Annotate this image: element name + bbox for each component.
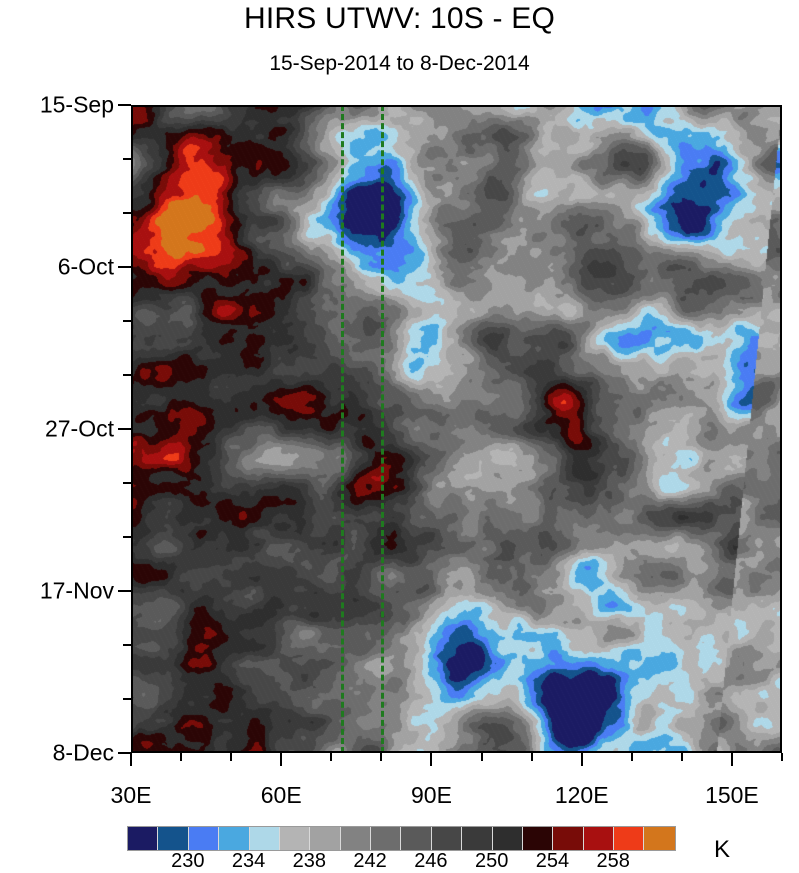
x-axis-tick-label: 60E bbox=[261, 782, 302, 809]
colorbar-swatch[interactable] bbox=[614, 827, 644, 850]
colorbar-tick-label: 238 bbox=[293, 850, 326, 873]
x-axis-tick-label: 120E bbox=[555, 782, 609, 809]
y-axis-minor-tick bbox=[123, 536, 131, 538]
x-axis-minor-tick bbox=[531, 753, 533, 761]
x-axis-tick-label: 30E bbox=[111, 782, 152, 809]
y-axis-major-tick bbox=[118, 104, 131, 106]
colorbar-swatch[interactable] bbox=[584, 827, 614, 850]
colorbar-swatch[interactable] bbox=[250, 827, 280, 850]
y-axis-major-tick bbox=[118, 752, 131, 754]
colorbar-tick-label: 234 bbox=[232, 850, 265, 873]
x-axis-major-tick bbox=[280, 753, 282, 766]
y-axis-minor-tick bbox=[123, 158, 131, 160]
colorbar-tick-label: 230 bbox=[171, 850, 204, 873]
colorbar-tick-label: 254 bbox=[536, 850, 569, 873]
hovmoller-figure: HIRS UTWV: 10S - EQ 15-Sep-2014 to 8-Dec… bbox=[0, 0, 799, 869]
y-axis-minor-tick bbox=[123, 698, 131, 700]
colorbar-swatch[interactable] bbox=[128, 827, 158, 850]
colorbar-swatch[interactable] bbox=[523, 827, 553, 850]
x-axis-minor-tick bbox=[481, 753, 483, 761]
y-axis-minor-tick bbox=[123, 212, 131, 214]
colorbar-tick-label: 250 bbox=[475, 850, 508, 873]
colorbar-tick-label: 242 bbox=[353, 850, 386, 873]
plot-area bbox=[131, 105, 782, 753]
colorbar-unit-label: K bbox=[714, 836, 730, 864]
y-axis-tick-label: 17-Nov bbox=[0, 578, 114, 605]
colorbar-tick-label: 258 bbox=[597, 850, 630, 873]
x-axis-tick-label: 90E bbox=[411, 782, 452, 809]
x-axis-major-tick bbox=[731, 753, 733, 766]
colorbar-swatch[interactable] bbox=[371, 827, 401, 850]
colorbar-swatch[interactable] bbox=[553, 827, 583, 850]
colorbar-swatch[interactable] bbox=[432, 827, 462, 850]
colorbar-swatch[interactable] bbox=[493, 827, 523, 850]
x-axis-minor-tick bbox=[330, 753, 332, 761]
y-axis-minor-tick bbox=[123, 320, 131, 322]
colorbar-tick-label: 246 bbox=[414, 850, 447, 873]
y-axis-tick-label: 27-Oct bbox=[0, 416, 114, 443]
colorbar-swatch[interactable] bbox=[310, 827, 340, 850]
x-axis-minor-tick bbox=[180, 753, 182, 761]
y-axis-minor-tick bbox=[123, 482, 131, 484]
y-axis-minor-tick bbox=[123, 644, 131, 646]
x-axis-major-tick bbox=[130, 753, 132, 766]
colorbar-swatch[interactable] bbox=[189, 827, 219, 850]
y-axis-tick-label: 6-Oct bbox=[0, 254, 114, 281]
colorbar-swatch[interactable] bbox=[280, 827, 310, 850]
x-axis-minor-tick bbox=[681, 753, 683, 761]
y-axis-major-tick bbox=[118, 428, 131, 430]
figure-subtitle: 15-Sep-2014 to 8-Dec-2014 bbox=[0, 52, 799, 76]
x-axis-major-tick bbox=[581, 753, 583, 766]
colorbar-swatch[interactable] bbox=[462, 827, 492, 850]
x-axis-minor-tick bbox=[781, 753, 783, 761]
y-axis-major-tick bbox=[118, 590, 131, 592]
x-axis-tick-label: 150E bbox=[705, 782, 759, 809]
y-axis-major-tick bbox=[118, 266, 131, 268]
x-axis-minor-tick bbox=[380, 753, 382, 761]
y-axis-minor-tick bbox=[123, 374, 131, 376]
y-axis-tick-label: 8-Dec bbox=[0, 740, 114, 767]
x-axis-minor-tick bbox=[230, 753, 232, 761]
contour-field-canvas bbox=[131, 105, 782, 753]
x-axis-major-tick bbox=[430, 753, 432, 766]
colorbar-swatch[interactable] bbox=[158, 827, 188, 850]
x-axis-minor-tick bbox=[631, 753, 633, 761]
colorbar-swatch[interactable] bbox=[401, 827, 431, 850]
page-title: HIRS UTWV: 10S - EQ bbox=[0, 2, 799, 36]
colorbar[interactable] bbox=[127, 826, 676, 851]
y-axis-tick-label: 15-Sep bbox=[0, 92, 114, 119]
colorbar-swatch[interactable] bbox=[341, 827, 371, 850]
colorbar-swatch[interactable] bbox=[644, 827, 674, 850]
colorbar-swatch[interactable] bbox=[219, 827, 249, 850]
